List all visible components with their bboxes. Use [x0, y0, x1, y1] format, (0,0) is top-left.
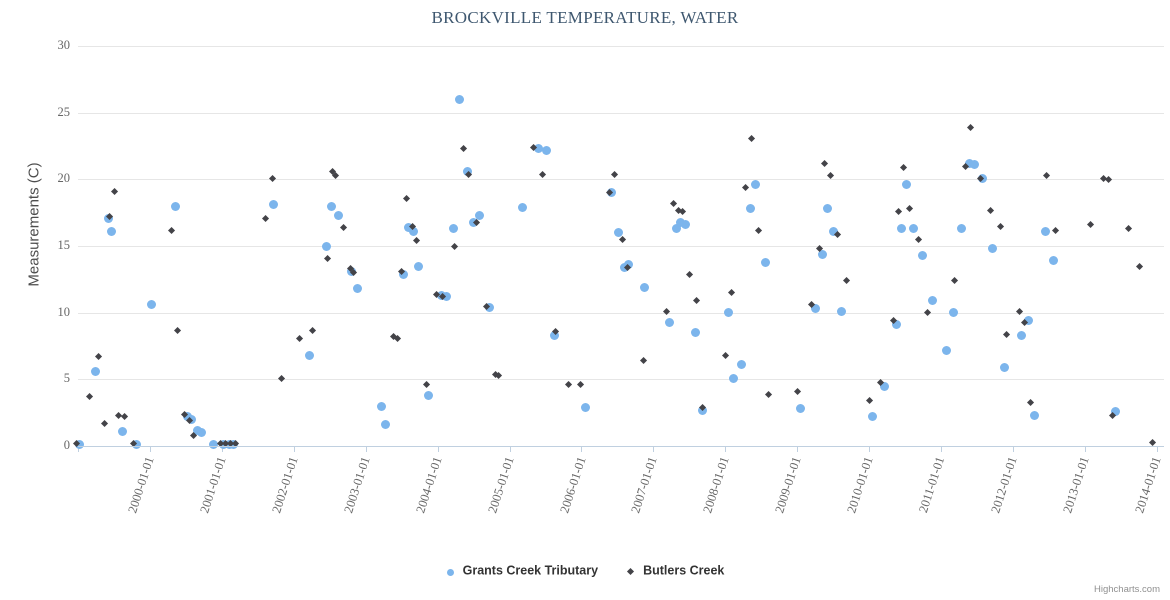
x-axis-tick-label: 2011-01-01	[916, 455, 948, 515]
gridline	[78, 113, 1164, 114]
legend-item[interactable]: Grants Creek Tributary	[446, 563, 598, 578]
chart-title: BROCKVILLE TEMPERATURE, WATER	[0, 8, 1170, 28]
x-axis-tick-label: 2010-01-01	[845, 455, 877, 515]
legend-item[interactable]: Butlers Creek	[626, 563, 724, 578]
y-axis-tick-label: 15	[28, 238, 70, 253]
x-axis-tick-label: 2002-01-01	[269, 455, 301, 515]
y-axis-tick-label: 5	[28, 371, 70, 386]
gridline	[78, 179, 1164, 180]
x-axis-line	[78, 446, 1164, 447]
x-axis-tick-label: 2001-01-01	[197, 455, 229, 515]
legend-item-label: Butlers Creek	[643, 564, 724, 578]
y-axis-tick-label: 0	[28, 438, 70, 453]
y-axis-tick-label: 20	[28, 171, 70, 186]
x-axis-tick-label: 2009-01-01	[773, 455, 805, 515]
x-axis-tick-label: 2008-01-01	[701, 455, 733, 515]
x-axis-tick-label: 2004-01-01	[413, 455, 445, 515]
credits-label: Highcharts.com	[1094, 584, 1160, 595]
gridline	[78, 46, 1164, 47]
y-axis-title: Measurements (C)	[26, 25, 43, 425]
circle-marker-icon	[446, 566, 456, 576]
plot-area	[78, 46, 1164, 446]
x-axis-tick-label: 2014-01-01	[1132, 455, 1164, 515]
x-axis-tick-label: 2007-01-01	[629, 455, 661, 515]
y-axis-tick-label: 30	[28, 38, 70, 53]
diamond-marker-icon	[626, 566, 636, 576]
x-axis-tick-label: 2003-01-01	[341, 455, 373, 515]
gridline	[78, 246, 1164, 247]
gridline	[78, 379, 1164, 380]
chart-legend: Grants Creek TributaryButlers Creek	[0, 563, 1170, 578]
x-axis-tick-label: 2012-01-01	[988, 455, 1020, 515]
y-axis-tick-label: 10	[28, 305, 70, 320]
chart-container: BROCKVILLE TEMPERATURE, WATER Measuremen…	[0, 0, 1170, 600]
x-axis-tick-label: 2005-01-01	[485, 455, 517, 515]
legend-item-label: Grants Creek Tributary	[463, 564, 598, 578]
x-axis-tick-label: 2013-01-01	[1060, 455, 1092, 515]
x-axis-tick-label: 2006-01-01	[557, 455, 589, 515]
x-axis-tick-label: 2000-01-01	[125, 455, 157, 515]
gridline	[78, 313, 1164, 314]
y-axis-tick-label: 25	[28, 105, 70, 120]
